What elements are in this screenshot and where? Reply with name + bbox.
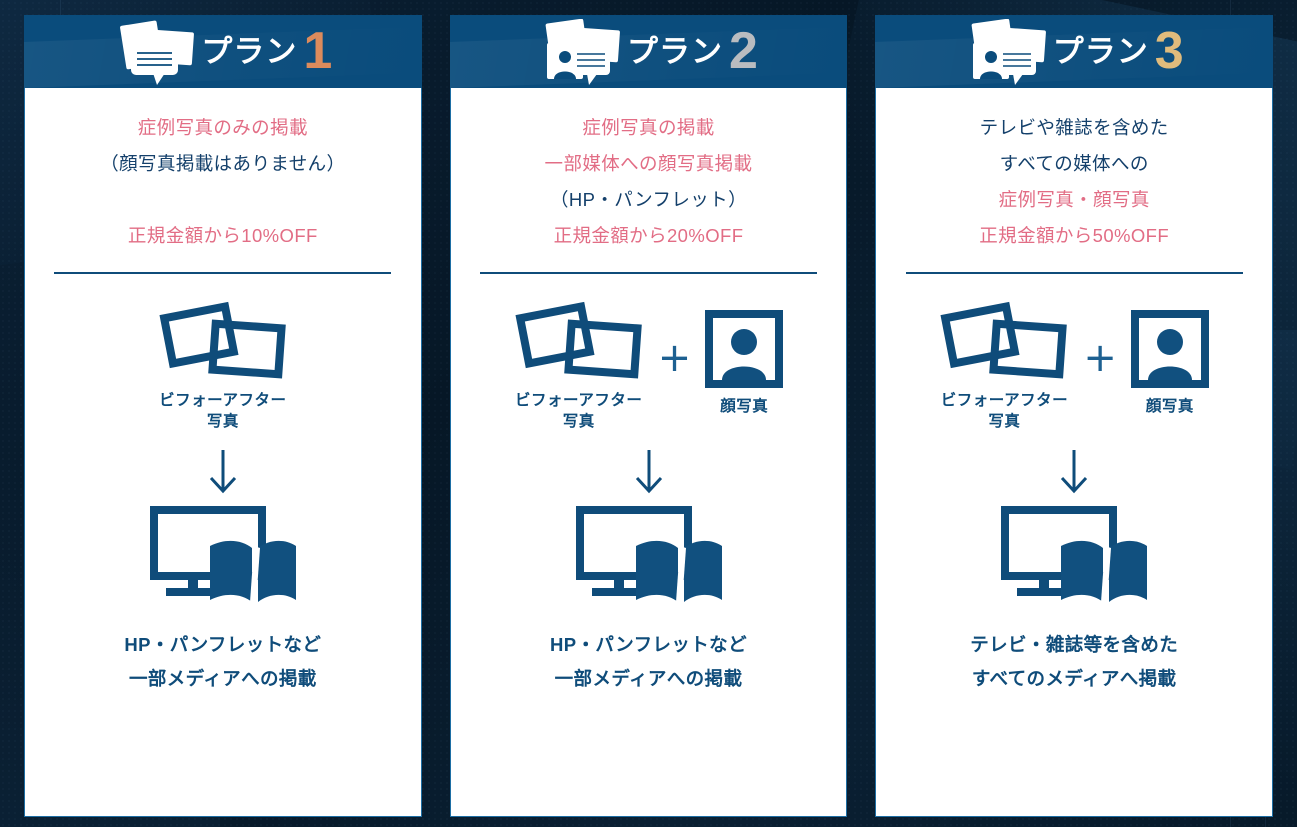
plan-card-3-number: 3 [1155, 28, 1184, 76]
bottom-line: テレビ・雑誌等を含めた [970, 628, 1178, 662]
before-after-photos-icon [939, 300, 1069, 382]
before-after-photos-block: ビフォーアフター 写真 [158, 300, 288, 432]
plan-cards-container: プラン 1 症例写真のみの掲載 （顔写真掲載はありません） 正規金額から10%O… [0, 0, 1297, 827]
caption-line: 写真 [515, 411, 642, 432]
before-after-photos-caption: ビフォーアフター 写真 [159, 390, 286, 432]
before-after-photos-icon [158, 300, 288, 382]
before-after-photos-block: ビフォーアフター 写真 [939, 300, 1069, 432]
plan-card-2-divider [480, 272, 817, 274]
portrait-documents-speech-bubble-icon [965, 19, 1049, 85]
plan-card-1-number: 1 [303, 28, 332, 76]
face-photo-block: 顔写真 [705, 310, 783, 417]
before-after-photos-block: ビフォーアフター 写真 [514, 300, 644, 432]
face-photo-icon [705, 310, 783, 388]
before-after-photos-caption: ビフォーアフター 写真 [515, 390, 642, 432]
arrow-down-icon [1057, 448, 1091, 494]
plan-card-1-media-row: ビフォーアフター 写真 [51, 300, 395, 432]
plan-card-3[interactable]: プラン 3 テレビや雑誌を含めた すべての媒体への 症例写真・顔写真 正規金額か… [875, 15, 1273, 817]
plan-card-1-lead: 症例写真のみの掲載 （顔写真掲載はありません） 正規金額から10%OFF [100, 110, 345, 254]
lead-line: 症例写真・顔写真 [979, 182, 1169, 218]
monitor-book-icon [999, 502, 1149, 612]
plus-sign-icon: + [1083, 338, 1117, 378]
face-photo-block: 顔写真 [1131, 310, 1209, 417]
plus-sign-icon: + [658, 338, 692, 378]
bottom-line: HP・パンフレットなど [550, 628, 747, 662]
caption-line: ビフォーアフター [941, 390, 1068, 411]
lead-line: 正規金額から20%OFF [545, 218, 753, 254]
face-photo-caption: 顔写真 [720, 396, 768, 417]
lead-line-spacer [100, 182, 345, 218]
caption-line: ビフォーアフター [159, 390, 286, 411]
portrait-documents-speech-bubble-icon [539, 19, 623, 85]
plan-card-3-media-row: ビフォーアフター 写真 + 顔写真 [902, 300, 1246, 432]
before-after-photos-caption: ビフォーアフター 写真 [941, 390, 1068, 432]
lead-line: 症例写真のみの掲載 [100, 110, 345, 146]
lead-line: テレビや雑誌を含めた [979, 110, 1169, 146]
bottom-line: 一部メディアへの掲載 [550, 662, 747, 696]
plan-card-1-bottom-text: HP・パンフレットなど 一部メディアへの掲載 [124, 628, 321, 696]
plan-card-2[interactable]: プラン 2 症例写真の掲載 一部媒体への顔写真掲載 （HP・パンフレット） 正規… [450, 15, 848, 817]
plan-card-2-bottom-text: HP・パンフレットなど 一部メディアへの掲載 [550, 628, 747, 696]
lead-line: 一部媒体への顔写真掲載 [545, 146, 753, 182]
plan-card-1[interactable]: プラン 1 症例写真のみの掲載 （顔写真掲載はありません） 正規金額から10%O… [24, 15, 422, 817]
lead-line: 正規金額から10%OFF [100, 218, 345, 254]
plan-card-2-number: 2 [729, 28, 758, 76]
plan-card-2-label: プラン [627, 36, 723, 67]
before-after-photos-icon [514, 300, 644, 382]
plan-card-3-lead: テレビや雑誌を含めた すべての媒体への 症例写真・顔写真 正規金額から50%OF… [979, 110, 1169, 254]
plan-card-3-body: テレビや雑誌を含めた すべての媒体への 症例写真・顔写真 正規金額から50%OF… [875, 88, 1273, 817]
monitor-book-icon [574, 502, 724, 612]
bottom-line: すべてのメディアへ掲載 [970, 662, 1178, 696]
monitor-book-icon [148, 502, 298, 612]
caption-line: ビフォーアフター [515, 390, 642, 411]
lead-line: 正規金額から50%OFF [979, 218, 1169, 254]
plan-card-3-bottom-text: テレビ・雑誌等を含めた すべてのメディアへ掲載 [970, 628, 1178, 696]
plan-card-1-body: 症例写真のみの掲載 （顔写真掲載はありません） 正規金額から10%OFF [24, 88, 422, 817]
documents-speech-bubble-icon [113, 19, 197, 85]
bottom-line: HP・パンフレットなど [124, 628, 321, 662]
plan-card-3-divider [906, 272, 1243, 274]
lead-line: （HP・パンフレット） [545, 182, 753, 218]
face-photo-icon [1131, 310, 1209, 388]
lead-line: 症例写真の掲載 [545, 110, 753, 146]
plan-card-3-header: プラン 3 [875, 15, 1273, 88]
lead-line: （顔写真掲載はありません） [100, 146, 345, 182]
plan-card-2-body: 症例写真の掲載 一部媒体への顔写真掲載 （HP・パンフレット） 正規金額から20… [450, 88, 848, 817]
caption-line: 写真 [159, 411, 286, 432]
face-photo-caption: 顔写真 [1146, 396, 1194, 417]
plan-card-2-lead: 症例写真の掲載 一部媒体への顔写真掲載 （HP・パンフレット） 正規金額から20… [545, 110, 753, 254]
plan-card-3-label: プラン [1053, 36, 1149, 67]
plan-card-1-divider [54, 272, 391, 274]
plan-card-1-header: プラン 1 [24, 15, 422, 88]
lead-line: すべての媒体への [979, 146, 1169, 182]
bottom-line: 一部メディアへの掲載 [124, 662, 321, 696]
plan-card-2-header: プラン 2 [450, 15, 848, 88]
plan-card-1-label: プラン [201, 36, 297, 67]
arrow-down-icon [632, 448, 666, 494]
plan-card-2-media-row: ビフォーアフター 写真 + 顔写真 [477, 300, 821, 432]
arrow-down-icon [206, 448, 240, 494]
caption-line: 写真 [941, 411, 1068, 432]
